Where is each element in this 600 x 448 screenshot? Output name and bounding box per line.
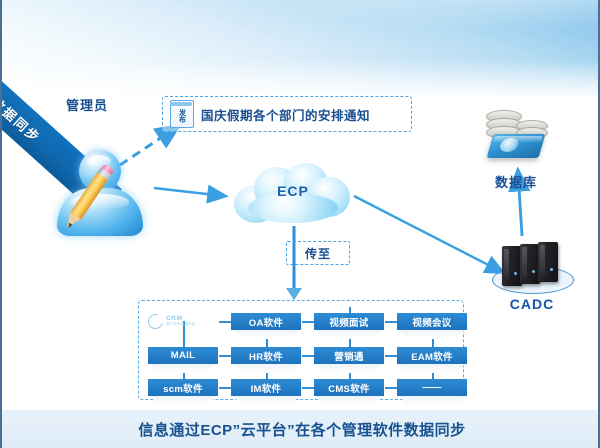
grid-box-label: —— xyxy=(397,379,467,396)
grid-box-label: EAM软件 xyxy=(397,347,467,364)
database-label: 数据库 xyxy=(457,172,575,191)
arrowhead-ecp-to-grid xyxy=(286,288,302,300)
grid-box-label: HR软件 xyxy=(231,347,301,364)
ecp-cloud: ECP xyxy=(230,163,356,225)
database-icon xyxy=(480,108,552,170)
grid-box-label: OA软件 xyxy=(231,313,301,330)
admin-figure xyxy=(48,148,156,260)
grid-cell-r1-c3[interactable]: 视频面试 xyxy=(314,313,384,330)
publish-icon-label: 发布 xyxy=(179,109,186,123)
grid-cell-r3-c2[interactable]: IM软件 xyxy=(231,379,301,396)
arrow-ecp-to-cadc xyxy=(354,196,502,272)
admin-label: 管理员 xyxy=(42,95,132,114)
server-rack-2 xyxy=(520,244,540,284)
grid-cell-crm-logo[interactable]: CRM 客户关系管理系统 xyxy=(148,313,218,330)
grid-box-label: IM软件 xyxy=(231,379,301,396)
grid-box-label: MAIL xyxy=(148,347,218,364)
grid-cell-r2-c2[interactable]: HR软件 xyxy=(231,347,301,364)
footer-band: 信息通过ECP”云平台”在各个管理软件数据同步 xyxy=(2,410,600,448)
software-grid-panel: CRM 客户关系管理系统 OA软件 视频面试 视频会议 MAIL HR软件 营销… xyxy=(138,300,464,400)
publish-icon: 发布 xyxy=(170,100,194,128)
cadc-label: CADC xyxy=(480,296,584,312)
grid-cell-r3-c3[interactable]: CMS软件 xyxy=(314,379,384,396)
grid-box-label: 营销通 xyxy=(314,347,384,364)
notice-box: 发布 国庆假期各个部门的安排通知 xyxy=(162,96,412,132)
hard-drive-icon xyxy=(487,134,546,158)
crm-ring-icon xyxy=(145,311,165,331)
grid-box-label: CMS软件 xyxy=(314,379,384,396)
publish-icon-cap xyxy=(170,102,192,106)
notice-text: 国庆假期各个部门的安排通知 xyxy=(201,105,370,124)
cadc-servers-icon xyxy=(492,236,572,296)
grid-cell-r1-c2[interactable]: OA软件 xyxy=(231,313,301,330)
footer-caption: 信息通过ECP”云平台”在各个管理软件数据同步 xyxy=(2,410,600,448)
grid-cell-r1-c4[interactable]: 视频会议 xyxy=(397,313,467,330)
grid-cell-r2-c1[interactable]: MAIL xyxy=(148,347,218,364)
crm-logo-subtitle: 客户关系管理系统 xyxy=(166,323,196,327)
grid-cell-r3-c1[interactable]: scm软件 xyxy=(148,379,218,396)
grid-cell-r3-c4[interactable]: —— xyxy=(397,379,467,396)
grid-box-label: scm软件 xyxy=(148,379,218,396)
server-rack-3 xyxy=(538,242,558,282)
grid-cell-r2-c4[interactable]: EAM软件 xyxy=(397,347,467,364)
arrow-admin-to-ecp xyxy=(154,188,224,196)
transfer-label-box: 传至 xyxy=(286,241,350,265)
server-rack-1 xyxy=(502,246,522,286)
slide-canvas: 数据同步 发布 国庆假期各个部门的安排通知 xyxy=(0,0,600,448)
transfer-label: 传至 xyxy=(305,245,331,262)
ecp-label: ECP xyxy=(230,183,356,199)
grid-box-label: 视频面试 xyxy=(314,313,384,330)
crm-logo-icon: CRM 客户关系管理系统 xyxy=(148,313,218,330)
grid-cell-r2-c3[interactable]: 营销通 xyxy=(314,347,384,364)
grid-box-label: 视频会议 xyxy=(397,313,467,330)
